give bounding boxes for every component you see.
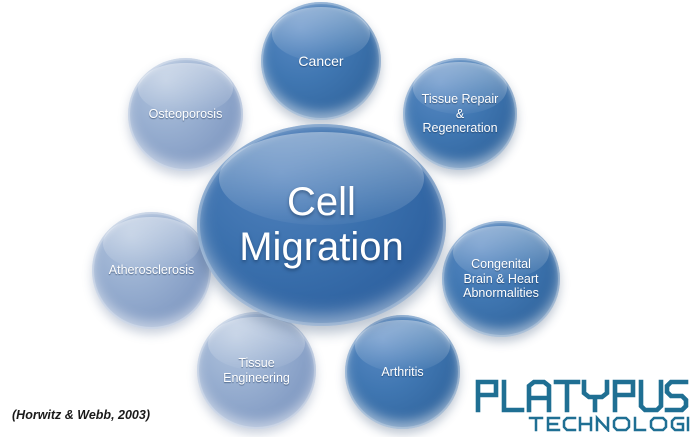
platypus-logo-icon [474, 376, 690, 432]
bubble-arthritis[interactable]: Arthritis [345, 315, 460, 429]
bubble-osteoporosis-label: Osteoporosis [143, 107, 229, 122]
bubble-tissue-engineering-label: Tissue Engineering [217, 356, 296, 386]
citation-text: (Horwitz & Webb, 2003) [12, 408, 150, 422]
bubble-congenital-abnormalities-label: Congenital Brain & Heart Abnormalities [457, 257, 545, 301]
bubble-atherosclerosis-label: Atherosclerosis [103, 263, 200, 278]
bubble-tissue-engineering[interactable]: Tissue Engineering [197, 312, 316, 429]
platypus-technologies-logo [474, 376, 690, 432]
bubble-cancer-label: Cancer [292, 53, 349, 70]
bubble-osteoporosis[interactable]: Osteoporosis [128, 58, 243, 171]
diagram-canvas: Osteoporosis Atherosclerosis Tissue Engi… [0, 0, 700, 437]
bubble-tissue-repair[interactable]: Tissue Repair & Regeneration [403, 58, 517, 170]
bubble-tissue-repair-label: Tissue Repair & Regeneration [416, 92, 505, 136]
bubble-cancer[interactable]: Cancer [261, 2, 381, 120]
bubble-congenital-abnormalities[interactable]: Congenital Brain & Heart Abnormalities [442, 221, 560, 337]
bubble-cell-migration-label: Cell Migration [233, 180, 410, 270]
bubble-arthritis-label: Arthritis [375, 365, 429, 380]
bubble-atherosclerosis[interactable]: Atherosclerosis [92, 212, 211, 329]
bubble-cell-migration[interactable]: Cell Migration [197, 124, 446, 326]
